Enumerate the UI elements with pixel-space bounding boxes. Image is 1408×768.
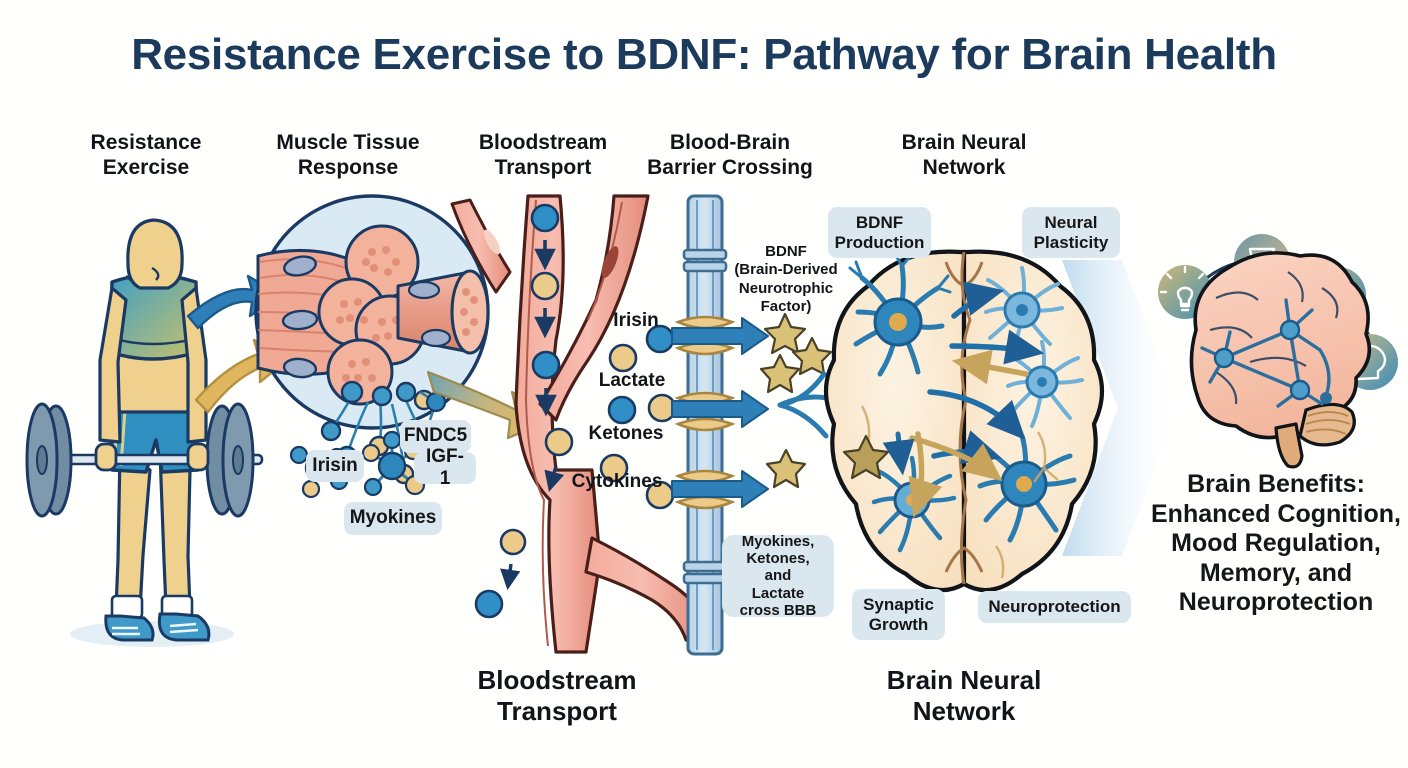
brain-neural-network-illustration (826, 252, 1178, 590)
bbb-crossing-arrows (672, 318, 768, 507)
chip-bdnf-production[interactable]: BDNF Production (828, 207, 931, 258)
stage-header-line1: Brain Neural (864, 131, 1064, 156)
label-irisin: Irisin (596, 310, 676, 332)
benefits-line2: Enhanced Cognition, (1148, 500, 1404, 530)
head-profile-icon (1350, 346, 1385, 379)
resistance-exercise-illustration (27, 220, 290, 647)
chip-synaptic-growth[interactable]: Synaptic Growth (852, 589, 945, 640)
chip-label: Neuroprotection (988, 597, 1120, 617)
stage-header-line2: Network (864, 156, 1064, 181)
stage-header-resistance-exercise: Resistance Exercise (46, 131, 246, 181)
chip-irisin[interactable]: Irisin (306, 450, 364, 482)
bottom-caption-line1: Bloodstream (438, 665, 676, 696)
bbb-callout-line4: cross BBB (740, 602, 817, 619)
chip-label-line2: Growth (869, 615, 929, 635)
brain-benefits-text: Brain Benefits: Enhanced Cognition, Mood… (1148, 470, 1404, 618)
benefit-icon-cognition (1158, 265, 1212, 319)
neuron-top-left (850, 252, 950, 374)
stage-header-muscle-tissue-response: Muscle Tissue Response (248, 131, 448, 181)
chip-label: Myokines (350, 507, 437, 529)
stage-header-line2: Transport (443, 156, 643, 181)
stage-header-line2: Response (248, 156, 448, 181)
benefit-icon-neuroprotection (1310, 267, 1366, 323)
stage-header-bloodstream-transport: Bloodstream Transport (443, 131, 643, 181)
benefits-line3: Mood Regulation, (1148, 529, 1404, 559)
bbb-crossing-callout[interactable]: Myokines, Ketones, and Lactate cross BBB (722, 535, 834, 617)
bottom-caption-line2: Network (845, 696, 1083, 727)
bdnf-star-icons (761, 314, 831, 487)
molecule-cluster-upper (420, 392, 452, 420)
shield-icon (1325, 280, 1351, 311)
mood-cup-icon (1250, 249, 1274, 276)
page-title: Resistance Exercise to BDNF: Pathway for… (0, 30, 1408, 80)
neuron-bottom-right (980, 436, 1074, 540)
chip-myokines[interactable]: Myokines (344, 502, 442, 535)
lightbulb-icon (1161, 267, 1209, 310)
label-cytokines: Cytokines (562, 471, 672, 493)
stage-header-line2: Barrier Crossing (630, 156, 830, 181)
bottom-caption-line2: Transport (438, 696, 676, 727)
bbb-callout-line3: Lactate (752, 585, 805, 602)
chip-label-line2: Production (835, 233, 925, 253)
chip-neural-plasticity[interactable]: Neural Plasticity (1022, 207, 1120, 258)
benefits-line1: Brain Benefits: (1148, 470, 1404, 500)
chip-label: FNDC5 (404, 425, 467, 447)
chip-igf1[interactable]: IGF-1 (414, 452, 476, 484)
bbb-callout-line1: Myokines, (742, 533, 815, 550)
benefits-line4: Memory, and (1148, 559, 1404, 589)
benefit-brain-side-view (1191, 253, 1369, 467)
bdnf-callout-line2: (Brain-Derived (722, 261, 850, 279)
neuron-top-right (986, 268, 1062, 352)
chip-label: IGF-1 (423, 446, 467, 490)
stage-header-line1: Resistance (46, 131, 246, 156)
bottom-caption-line1: Brain Neural (845, 665, 1083, 696)
brain-benefits-illustration (1158, 234, 1398, 467)
stage-header-blood-brain-barrier: Blood-Brain Barrier Crossing (630, 131, 830, 181)
bbb-callout-line2: Ketones, and (731, 550, 825, 585)
label-ketones: Ketones (580, 423, 672, 445)
benefit-icon-mood (1234, 234, 1290, 290)
chip-label-line1: Synaptic (863, 595, 934, 615)
stage-header-line1: Muscle Tissue (248, 131, 448, 156)
label-lactate: Lactate (586, 370, 678, 392)
chip-label: Irisin (312, 455, 357, 477)
bottom-caption-bloodstream-transport: Bloodstream Transport (438, 665, 676, 727)
illustration-layer (0, 0, 1408, 768)
arrow-exercise-to-muscle-blue (188, 276, 282, 328)
neuron-mid-right (1008, 342, 1082, 426)
chip-label-line2: Plasticity (1034, 233, 1109, 253)
stage-header-brain-neural-network: Brain Neural Network (864, 131, 1064, 181)
stage-header-line1: Bloodstream (443, 131, 643, 156)
benefits-line5: Neuroprotection (1148, 588, 1404, 618)
chip-label-line1: BDNF (856, 213, 903, 233)
bdnf-callout-line3: Neurotrophic (722, 280, 850, 298)
bottom-caption-brain-neural-network: Brain Neural Network (845, 665, 1083, 727)
arrow-exercise-to-muscle-gold (196, 340, 290, 412)
chip-neuroprotection[interactable]: Neuroprotection (978, 591, 1131, 623)
bdnf-callout-line4: Factor) (722, 298, 850, 316)
infographic-canvas: Resistance Exercise to BDNF: Pathway for… (0, 0, 1408, 768)
benefit-icon-memory (1342, 334, 1398, 390)
stage-header-line2: Exercise (46, 156, 246, 181)
neuron-bottom-left (874, 458, 954, 550)
stage-header-line1: Blood-Brain (630, 131, 830, 156)
chip-label-line1: Neural (1045, 213, 1098, 233)
bdnf-star-icon-in-brain (844, 436, 888, 478)
